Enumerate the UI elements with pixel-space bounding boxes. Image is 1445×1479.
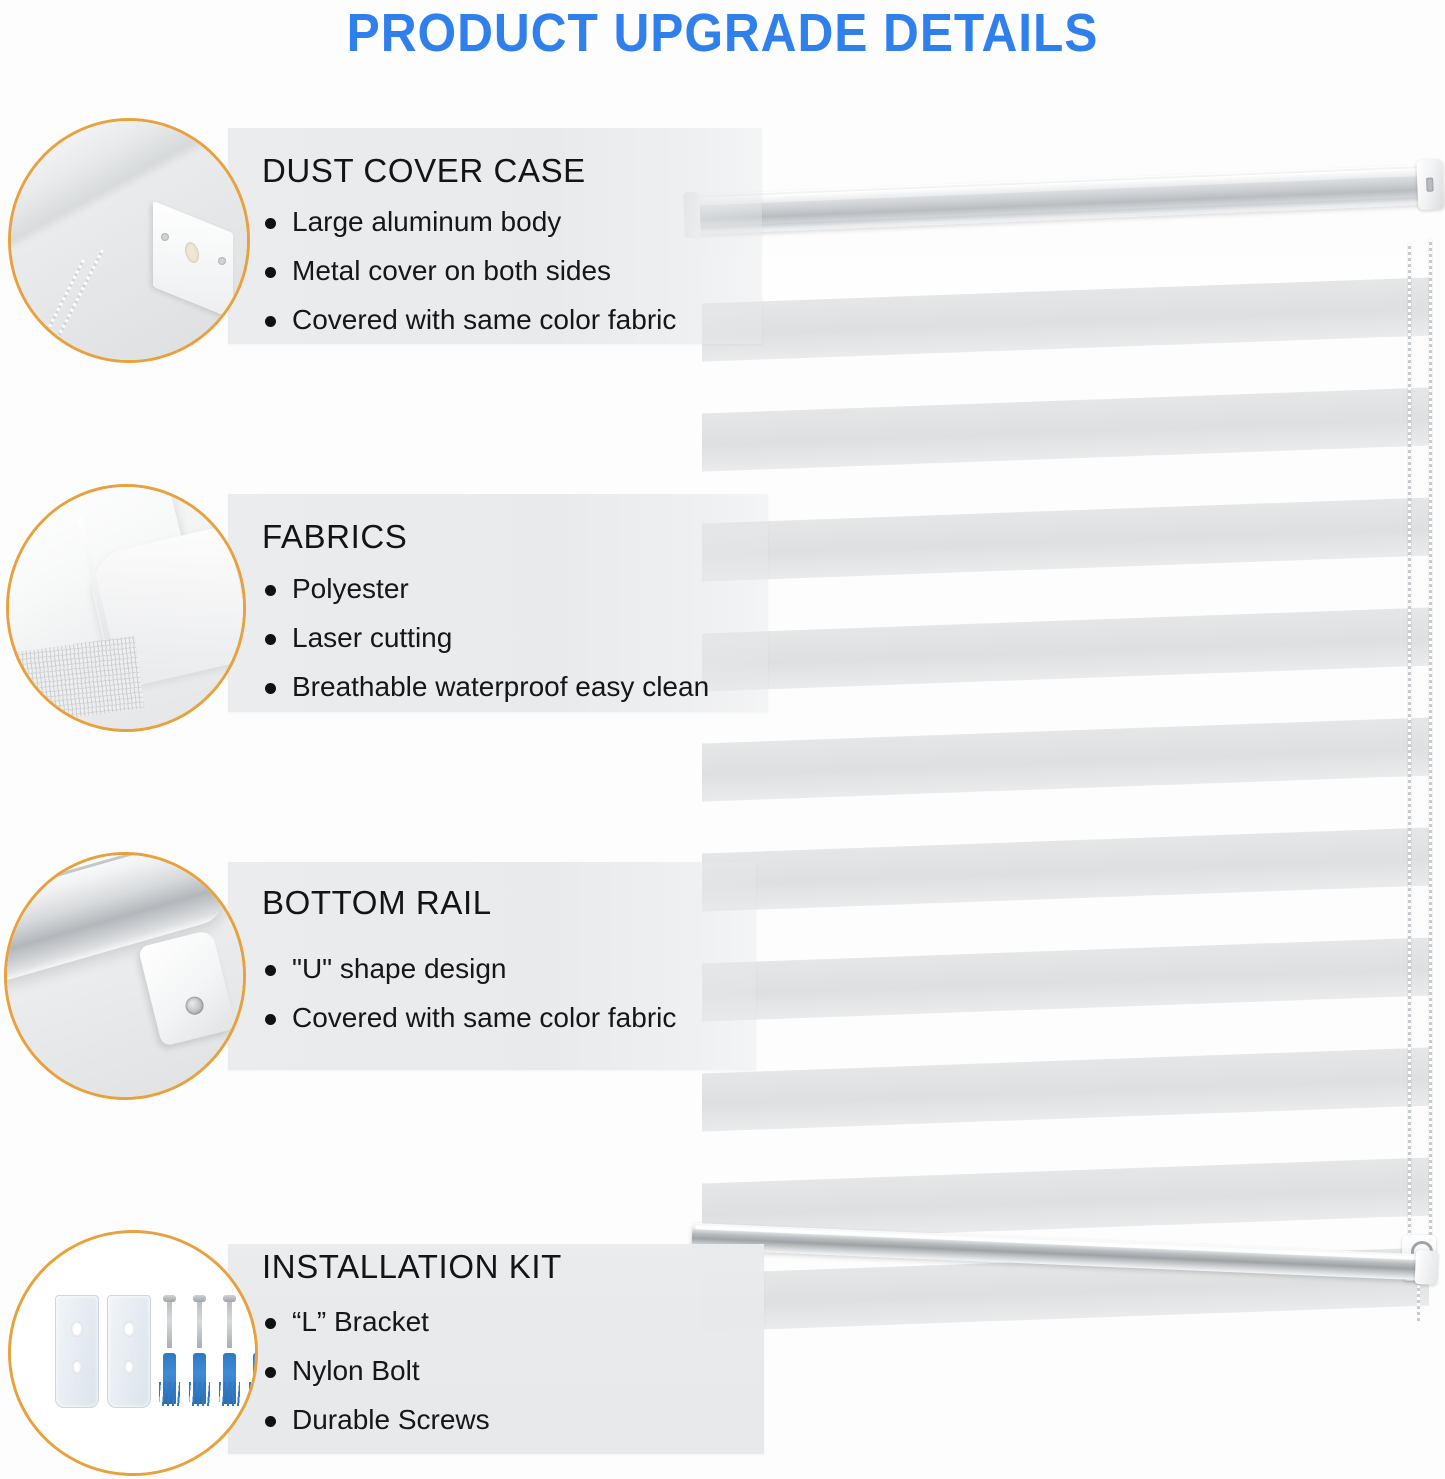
bullet-item: Polyester (262, 575, 709, 603)
bead-chain[interactable] (690, 195, 1445, 1330)
bullet-item: “L” Bracket (262, 1308, 490, 1336)
bullet-item: Covered with same color fabric (262, 306, 676, 334)
sheer-mesh-band (9, 636, 144, 725)
bullet-item: Covered with same color fabric (262, 1004, 676, 1032)
bullet-item: Metal cover on both sides (262, 257, 676, 285)
feature-photo-oval (4, 852, 246, 1100)
l-bracket-icon (55, 1295, 99, 1407)
feature-title: FABRICS (262, 518, 407, 556)
bullet-item: Nylon Bolt (262, 1357, 490, 1385)
feature-title: DUST COVER CASE (262, 152, 586, 190)
feature-bullets: "U" shape design Covered with same color… (262, 955, 676, 1053)
l-bracket-icon (107, 1295, 151, 1407)
feature-title: INSTALLATION KIT (262, 1248, 562, 1286)
product-blind-image (690, 195, 1445, 1330)
installation-kit-photo (11, 1233, 255, 1473)
screw-icon (197, 1300, 202, 1349)
infographic-root: PRODUCT UPGRADE DETAILS (0, 0, 1445, 1479)
bullet-item: "U" shape design (262, 955, 676, 983)
bullet-item: Laser cutting (262, 624, 709, 652)
bullet-item: Breathable waterproof easy clean (262, 673, 709, 701)
feature-bullets: Polyester Laser cutting Breathable water… (262, 575, 709, 722)
chain-strand-left (1408, 243, 1411, 1253)
chain-strand-right (1429, 239, 1432, 1253)
bottom-rail-photo (7, 855, 243, 1097)
screw-icon (227, 1300, 232, 1349)
kit-parts (55, 1295, 231, 1405)
chain-tail (1417, 1279, 1420, 1321)
bead-chain-strand (32, 259, 85, 358)
feature-photo-oval (6, 484, 246, 732)
screw-icon (167, 1300, 172, 1349)
dust-cover-case-photo (11, 121, 247, 360)
fabrics-photo (9, 487, 243, 729)
wall-anchor-icon (223, 1353, 236, 1404)
page-title: PRODUCT UPGRADE DETAILS (58, 2, 1387, 64)
feature-bullets: Large aluminum body Metal cover on both … (262, 208, 676, 355)
feature-bullets: “L” Bracket Nylon Bolt Durable Screws (262, 1308, 490, 1455)
bullet-item: Durable Screws (262, 1406, 490, 1434)
bottom-rail-endcap (1415, 1250, 1438, 1285)
feature-title: BOTTOM RAIL (262, 884, 492, 922)
wall-anchor-icon (163, 1353, 176, 1404)
feature-photo-oval (8, 118, 250, 363)
bead-chain-strand (51, 249, 104, 348)
rail-end-cap (137, 930, 235, 1047)
wall-anchor-icon (193, 1353, 206, 1404)
feature-photo-oval (8, 1230, 258, 1476)
screw-icon (218, 257, 226, 265)
bullet-item: Large aluminum body (262, 208, 676, 236)
